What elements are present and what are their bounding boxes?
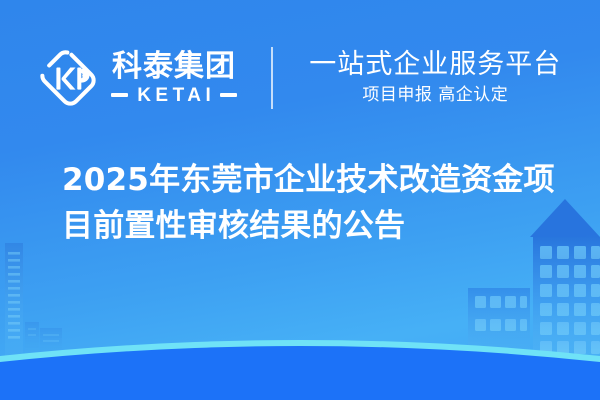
logo-wordmark: 科泰集团 KETAI (111, 52, 238, 105)
announcement-title-line-1: 2025年东莞市企业技术改造资金项 (62, 157, 574, 203)
building-left-lowrise (25, 322, 62, 364)
logo-company-cn: 科泰集团 (112, 52, 236, 82)
header-divider (271, 47, 273, 109)
tagline-sub: 项目申报 高企认定 (362, 84, 508, 106)
announcement-title-line-2: 目前置性审核结果的公告 (62, 203, 574, 249)
logo-company-en: KETAI (133, 86, 216, 105)
announcement-banner: 科泰集团 KETAI 一站式企业服务平台 项目申报 高企认定 2025年东莞市企… (0, 0, 600, 400)
ketai-diamond-kp-logo-icon (39, 49, 97, 107)
brand-tagline: 一站式企业服务平台 项目申报 高企认定 (309, 50, 561, 106)
tagline-main: 一站式企业服务平台 (309, 50, 561, 80)
announcement-title: 2025年东莞市企业技术改造资金项 目前置性审核结果的公告 (62, 157, 574, 249)
logo-company-en-row: KETAI (111, 86, 238, 105)
logo-dash-left-icon (111, 93, 128, 97)
logo-dash-right-icon (220, 93, 237, 97)
building-left-tower (5, 243, 23, 363)
brand-logo: 科泰集团 KETAI 一站式企业服务平台 项目申报 高企认定 (39, 47, 562, 109)
building-right-midrise (468, 288, 530, 364)
banner-header: 科泰集团 KETAI 一站式企业服务平台 项目申报 高企认定 (0, 38, 600, 118)
